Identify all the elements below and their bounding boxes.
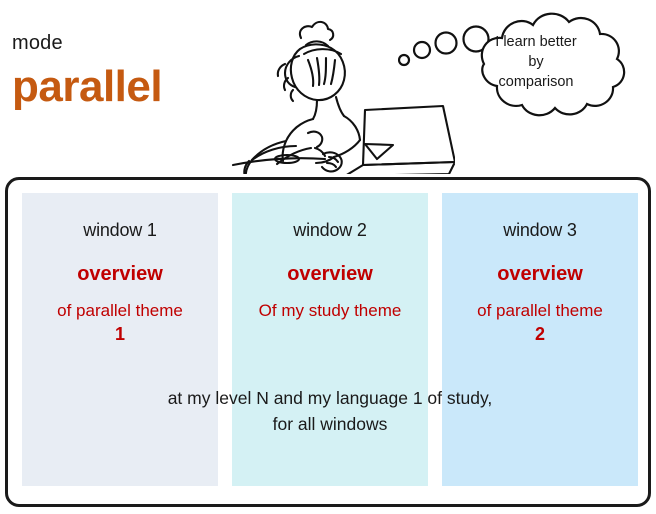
window-panel-3-overview: overview bbox=[442, 263, 638, 286]
window-panel-1-number: 1 bbox=[22, 322, 218, 346]
window-panel-2-overview: overview bbox=[232, 263, 428, 286]
window-panel-3-description: of parallel theme bbox=[442, 300, 638, 322]
window-panel-2[interactable]: window 2 overview Of my study theme bbox=[232, 193, 428, 486]
window-panel-1[interactable]: window 1 overview of parallel theme 1 bbox=[22, 193, 218, 486]
thought-bubble-line-1: I learn better bbox=[495, 34, 576, 50]
window-panel-1-title: window 1 bbox=[22, 220, 218, 241]
window-panel-2-title: window 2 bbox=[232, 220, 428, 241]
window-panel-2-description: Of my study theme bbox=[232, 300, 428, 322]
mode-label: mode bbox=[12, 32, 63, 55]
window-panel-3[interactable]: window 3 overview of parallel theme 2 bbox=[442, 193, 638, 486]
mode-value: parallel bbox=[12, 62, 162, 112]
windows-container: window 1 overview of parallel theme 1 wi… bbox=[5, 177, 651, 507]
window-panel-1-description: of parallel theme bbox=[22, 300, 218, 322]
panels-row: window 1 overview of parallel theme 1 wi… bbox=[22, 193, 638, 486]
thought-bubble-text: I learn better by comparison bbox=[462, 32, 610, 92]
header: mode parallel bbox=[0, 0, 656, 175]
window-panel-1-overview: overview bbox=[22, 263, 218, 286]
window-panel-3-number: 2 bbox=[442, 322, 638, 346]
thought-bubble-line-3: comparison bbox=[499, 74, 574, 90]
window-panel-3-title: window 3 bbox=[442, 220, 638, 241]
thought-bubble-line-2: by bbox=[528, 54, 543, 70]
